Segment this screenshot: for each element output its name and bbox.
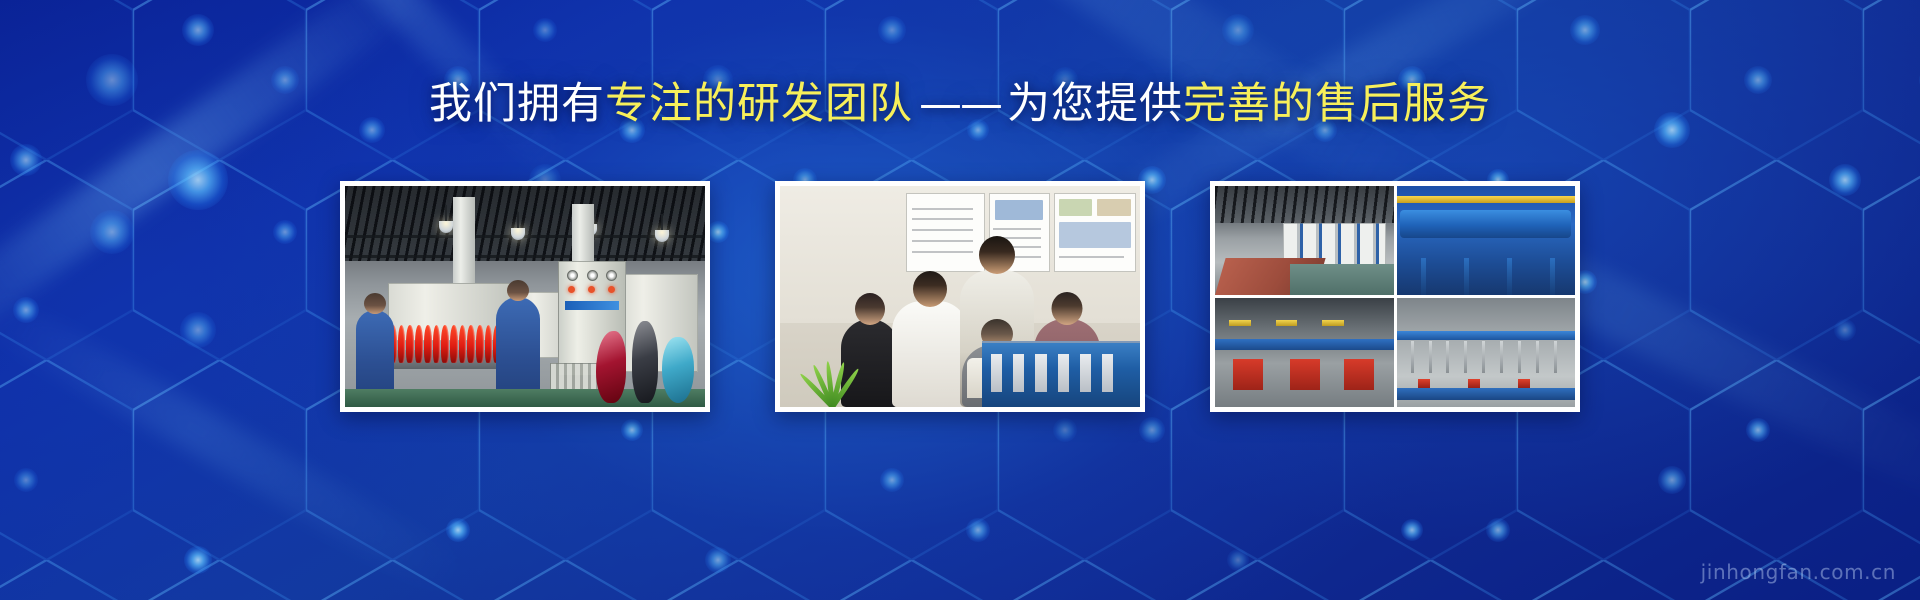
foreground-plant [784, 350, 878, 407]
glow-node [705, 547, 731, 573]
line-base [1397, 388, 1576, 400]
glow-node [966, 518, 990, 542]
promo-banner: 我们拥有专注的研发团队——为您提供完善的售后服务 [0, 0, 1920, 600]
crane-arm [1322, 320, 1343, 327]
glow-node [1139, 417, 1165, 443]
red-fixture [1418, 379, 1430, 389]
product-vase-dark [632, 321, 658, 403]
support-leg [1464, 258, 1469, 295]
page-title: 我们拥有专注的研发团队——为您提供完善的售后服务 [0, 79, 1920, 130]
glow-node [10, 144, 42, 176]
technical-poster [1054, 193, 1137, 273]
glow-node [533, 18, 557, 42]
crane-arm [1229, 320, 1250, 327]
glow-node [880, 468, 904, 492]
ceiling-lamp [511, 228, 525, 240]
headline-dash: —— [913, 79, 1007, 129]
glow-node [1053, 418, 1077, 442]
glow-node [878, 16, 906, 44]
indicator-led [608, 286, 615, 293]
photo-gallery [0, 181, 1920, 412]
glow-node [1570, 15, 1600, 45]
collage-cell-hanging-line [1397, 298, 1576, 407]
photo-frame-equipment-collage[interactable] [1210, 181, 1580, 412]
roof-structure [345, 186, 705, 261]
product-vase-red [596, 331, 626, 403]
control-dial [567, 270, 578, 281]
transport-cart [1290, 359, 1320, 390]
photo-frame-production-line[interactable] [340, 181, 710, 412]
photo-production-line [345, 186, 705, 407]
glow-node [1222, 14, 1254, 46]
product-vase-blue [662, 337, 694, 403]
headline-segment-4: 完善的售后服务 [1183, 79, 1491, 129]
support-leg [1507, 258, 1512, 295]
glow-node [182, 14, 214, 46]
red-fixture [1468, 379, 1480, 389]
red-fixture [1518, 379, 1530, 389]
control-dial [587, 270, 598, 281]
collage-cell-workshop [1215, 186, 1394, 295]
yellow-pipe [1397, 196, 1576, 204]
glow-node [1746, 418, 1770, 442]
roof-structure [1215, 186, 1394, 223]
brand-plate [565, 301, 619, 310]
equipment-inset [982, 341, 1140, 407]
support-leg [1421, 258, 1426, 295]
site-watermark: jinhongfan.com.cn [1701, 560, 1896, 584]
indicator-led [588, 286, 595, 293]
indicator-led [568, 286, 575, 293]
conveyor-rail [1215, 339, 1394, 350]
green-floor [1290, 264, 1394, 295]
photo-equipment-collage [1215, 186, 1575, 407]
headline-segment-2: 专注的研发团队 [605, 79, 913, 129]
glow-node [446, 518, 470, 542]
collage-cell-blue-duct [1397, 186, 1576, 295]
glow-node [1227, 549, 1249, 571]
glow-node [1486, 518, 1510, 542]
support-leg [1550, 258, 1555, 295]
glow-node [1401, 519, 1423, 541]
collage-cell-conveyor [1215, 298, 1394, 407]
ceiling-beam [345, 255, 705, 258]
blue-duct [1400, 210, 1571, 238]
transport-cart [1344, 359, 1374, 390]
glow-node [621, 419, 643, 441]
ceiling-beam [345, 235, 705, 238]
glow-node [184, 546, 212, 574]
glow-node [1658, 466, 1686, 494]
transport-cart [1233, 359, 1263, 390]
crane-arm [1276, 320, 1297, 327]
glow-node [14, 468, 38, 492]
control-dial [606, 270, 617, 281]
meeting-participant [892, 301, 968, 407]
technical-poster [906, 193, 985, 273]
overhead-line [1397, 331, 1576, 341]
headline-segment-1: 我们拥有 [429, 79, 605, 129]
photo-frame-team-meeting[interactable] [775, 181, 1145, 412]
headline-segment-3: 为您提供 [1007, 79, 1183, 129]
photo-rnd-team-meeting [780, 186, 1140, 407]
